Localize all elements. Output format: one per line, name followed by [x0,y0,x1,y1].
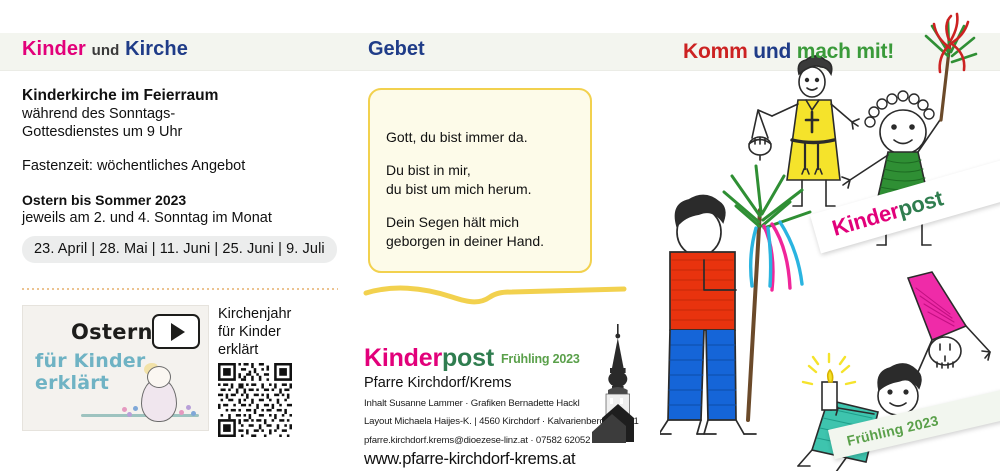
spacer [22,175,338,191]
komm-word-komm: Komm [683,40,748,63]
spacer [22,141,338,157]
komm-und-mach-mit-headline: Komm und mach mit! [683,40,894,64]
thumbnail-subtitle: für Kinder erklärt [35,350,208,394]
decor-dot [186,405,191,410]
video-caption-line3: erklärt [218,341,292,359]
komm-word-mach-mit: mach mit! [797,40,894,63]
logo-season: Frühling 2023 [501,352,580,366]
kinderpost-flyer-page: Kinder und Kirche Kinderkirche im Feierr… [0,0,1000,471]
prayer-line-2b: du bist um mich herum. [386,181,532,197]
video-caption-block: Kirchenjahr für Kinder erklärt [218,305,292,437]
komm-word-und: und [753,40,791,63]
drawing-boy-red-blue [660,195,756,434]
prayer-text: Gott, du bist immer da. Du bist in mir, … [386,128,578,251]
middle-column: Gebet [368,38,658,60]
title-word-kinder: Kinder [22,38,86,60]
season-subheading: jeweils am 2. und 4. Sonntag im Monat [22,209,338,227]
yellow-swoosh-decoration [362,283,638,307]
season-heading: Ostern bis Sommer 2023 [22,191,338,209]
prayer-line-3b: geborgen in deiner Hand. [386,233,544,249]
prayer-line-2a: Du bist in mir, [386,162,471,178]
kinderkirche-subtitle: Kinderkirche im Feierraum [22,86,338,105]
prayer-line-1: Gott, du bist immer da. [386,128,578,147]
logo-word-post: post [442,344,494,372]
decor-dot [122,407,127,412]
decor-dot [133,406,138,411]
decor-dot [191,411,196,416]
chick-illustration [147,366,171,388]
thumbnail-title: Ostern [71,320,153,344]
drawing-priest [749,56,859,206]
drawing-pink-figure [908,272,990,379]
church-tower-photo [592,322,648,444]
prayer-box: Gott, du bist immer da. Du bist in mir, … [368,88,592,273]
diagonal-word-post: post [895,185,946,222]
gebet-title: Gebet [368,38,658,60]
website-url[interactable]: www.pfarre-kirchdorf-krems.at [364,450,664,469]
kinderkirche-line2: Gottesdienstes um 9 Uhr [22,123,338,141]
drawing-palm-branch-red [926,14,976,120]
decor-dot [179,410,184,415]
logo-word-kinder: Kinder [364,344,442,372]
kinderkirche-block: Kinderkirche im Feierraum während des So… [22,86,338,141]
decor-dot [127,412,132,417]
page-title-kinder-und-kirche: Kinder und Kirche [22,38,338,62]
dotted-divider [22,288,338,290]
dates-pill: 23. April | 28. Mai | 11. Juni | 25. Jun… [22,236,337,263]
fastenzeit-note: Fastenzeit: wöchentliches Angebot [22,157,338,175]
title-word-kirche: Kirche [125,38,188,60]
prayer-line-3a: Dein Segen hält mich [386,214,519,230]
title-word-und: und [92,42,120,59]
drawing-palm-branch-green [724,166,810,420]
left-column: Kinder und Kirche Kinderkirche im Feierr… [22,38,338,263]
kinderkirche-line1: während des Sonntags- [22,105,338,123]
video-caption-line1: Kirchenjahr [218,305,292,323]
video-qr-row: Ostern für Kinder erklärt Kirchenjahr fü… [22,305,292,437]
video-caption-line2: für Kinder [218,323,292,341]
video-thumbnail[interactable]: Ostern für Kinder erklärt [22,305,209,431]
qr-code-icon[interactable] [218,363,292,437]
play-triangle-icon [171,323,185,341]
prayer-stanza-2: Du bist in mir, du bist um mich herum. [386,161,578,199]
play-icon[interactable] [152,314,200,349]
prayer-stanza-3: Dein Segen hält mich geborgen in deiner … [386,213,578,251]
